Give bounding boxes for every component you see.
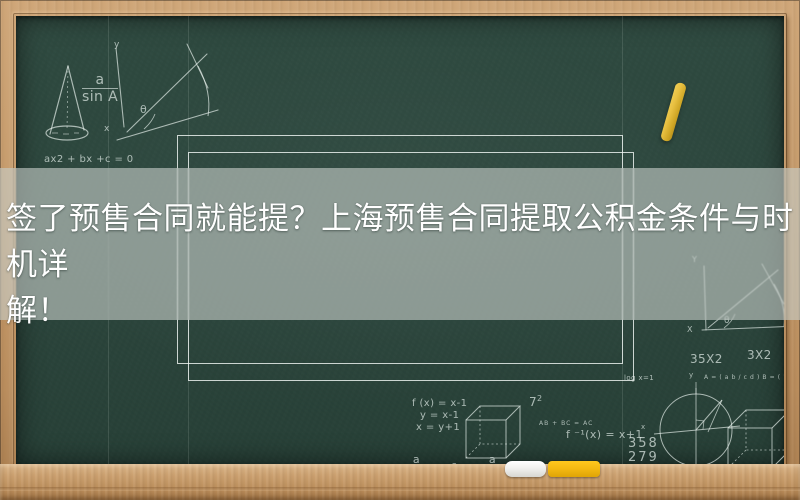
- yellow-chalk-on-ledge: [548, 461, 600, 477]
- chalk-ledge: [0, 464, 800, 500]
- title-line-1: 签了预售合同就能提？上海预售合同提取公积金条件与时机详: [6, 196, 798, 288]
- title-line-2: 解！: [6, 288, 798, 334]
- ledge-lip: [0, 487, 800, 491]
- white-chalk-on-ledge: [505, 461, 546, 477]
- page-title: 签了预售合同就能提？上海预售合同提取公积金条件与时机详 解！: [6, 196, 798, 334]
- chalkboard-title-card: a sin A y x θ ax2 + bx +c = 0 Y X θ f (x…: [0, 0, 800, 500]
